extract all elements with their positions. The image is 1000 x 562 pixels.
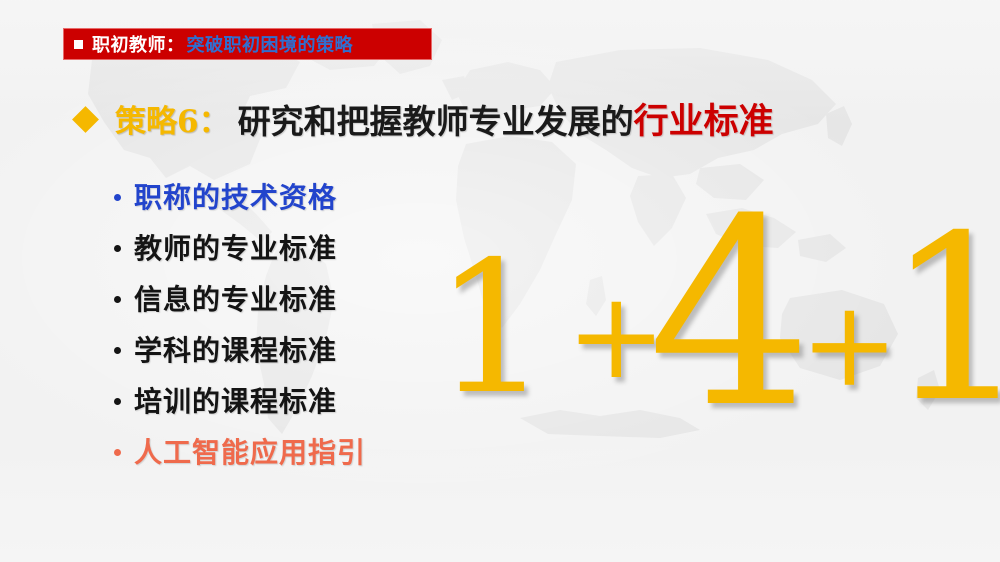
list-item[interactable]: 人工智能应用指引 <box>114 431 444 482</box>
list-item-label: 信息的专业标准 <box>134 278 337 318</box>
bullet-dot-icon <box>114 398 121 405</box>
strategy-title: 策略6： 研究和把握教师专业发展的 行业标准 <box>76 93 774 144</box>
list-item-label: 职称的技术资格 <box>134 176 337 216</box>
list-item-label: 人工智能应用指引 <box>134 431 366 471</box>
title-prefix: 策略6： <box>115 96 230 141</box>
formula-graphic: 1 + 4 + 1 <box>430 185 960 400</box>
list-item[interactable]: 职称的技术资格 <box>114 176 444 227</box>
bullet-dot-icon <box>114 449 121 456</box>
bullet-dot-icon <box>114 347 121 354</box>
header-label-secondary: 突破职初困境的策略 <box>187 31 354 57</box>
list-item[interactable]: 培训的课程标准 <box>114 380 444 431</box>
header-label-primary: 职初教师： <box>92 31 185 57</box>
title-emphasis: 行业标准 <box>634 93 774 144</box>
bullet-dot-icon <box>114 245 121 252</box>
list-item[interactable]: 信息的专业标准 <box>114 278 444 329</box>
list-item[interactable]: 教师的专业标准 <box>114 227 444 278</box>
bullet-dot-icon <box>114 194 121 201</box>
bullet-dot-icon <box>114 296 121 303</box>
list-item-label: 培训的课程标准 <box>134 380 337 420</box>
formula-digit-four: 4 <box>648 185 812 443</box>
header-ribbon: 职初教师： 突破职初困境的策略 <box>63 28 432 60</box>
list-item[interactable]: 学科的课程标准 <box>114 329 444 380</box>
formula-digit-one-first: 1 <box>434 237 550 419</box>
gold-diamond-icon <box>72 106 99 133</box>
title-body: 研究和把握教师专业发展的 <box>238 95 634 143</box>
slide-canvas: 职初教师： 突破职初困境的策略 策略6： 研究和把握教师专业发展的 行业标准 职… <box>0 0 1000 562</box>
list-item-label: 教师的专业标准 <box>134 227 337 267</box>
list-item-label: 学科的课程标准 <box>134 329 337 369</box>
formula-digit-one-second: 1 <box>885 205 1000 433</box>
standards-bullet-list: 职称的技术资格 教师的专业标准 信息的专业标准 学科的课程标准 培训的课程标准 <box>114 176 444 482</box>
white-square-icon <box>74 40 83 49</box>
